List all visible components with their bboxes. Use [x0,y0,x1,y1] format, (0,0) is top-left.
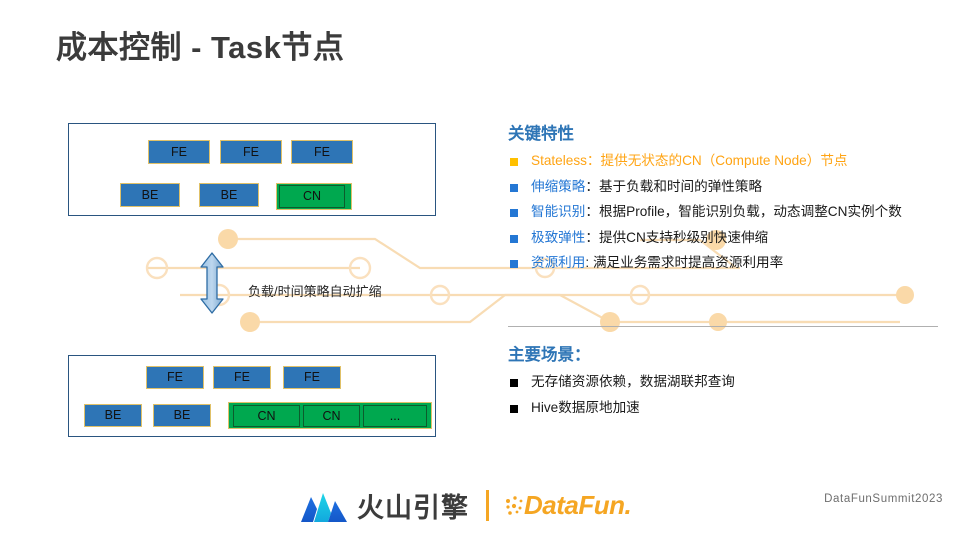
feature-item: 极致弹性：提供CN支持秒级别快速伸缩 [508,228,948,248]
scenario-item: Hive数据原地加速 [508,398,948,418]
node-be: BE [84,404,142,427]
bullet-square-icon [510,158,518,166]
section-divider [508,326,938,327]
feature-body: 满足业务需求时提高资源利用率 [593,255,783,270]
feature-body: 根据Profile，智能识别负载，动态调整CN实例个数 [599,204,902,219]
feature-separator: : [585,255,593,270]
datafun-dots-icon [504,492,524,518]
feature-item: 智能识别：根据Profile，智能识别负载，动态调整CN实例个数 [508,202,948,222]
feature-label: 极致弹性 [531,230,585,245]
bullet-square-icon [510,209,518,217]
node-fe: FE [148,140,210,164]
key-features-heading: 关键特性 [508,124,948,145]
bullet-square-icon [510,184,518,192]
feature-separator: ： [585,204,599,219]
scenarios-heading: 主要场景： [508,345,948,366]
key-features-list: Stateless：提供无状态的CN（Compute Node）节点 伸缩策略：… [508,151,948,273]
node-be: BE [153,404,211,427]
feature-separator: ： [585,230,599,245]
node-cn: CN [233,405,300,427]
feature-body: 提供无状态的CN（Compute Node）节点 [601,153,848,168]
partner-name: DataFun. [524,490,631,521]
node-fe: FE [283,366,341,389]
node-fe: FE [291,140,353,164]
bullet-square-icon [510,379,518,387]
feature-separator: ： [585,179,599,194]
node-cn-band: CN CN ... [228,402,432,429]
scenario-body: 无存储资源依赖，数据湖联邦查询 [531,374,735,389]
node-cn-ellipsis: ... [363,405,427,427]
node-fe: FE [146,366,204,389]
feature-separator: ： [587,153,601,168]
feature-label: 伸缩策略 [531,179,585,194]
feature-label: 资源利用 [531,255,585,270]
feature-body: 基于负载和时间的弹性策略 [599,179,762,194]
feature-item: Stateless：提供无状态的CN（Compute Node）节点 [508,151,948,171]
double-headed-vertical-arrow [198,252,226,314]
brand-group: 火山引擎 DataFun. [297,482,631,528]
brand-divider [486,490,489,521]
summit-tag: DataFunSummit2023 [824,493,943,505]
scenarios-list: 无存储资源依赖，数据湖联邦查询 Hive数据原地加速 [508,372,948,418]
bullet-square-icon [510,260,518,268]
node-be: BE [199,183,259,207]
page-title: 成本控制 - Task节点 [56,22,344,67]
brand-name: 火山引擎 [357,486,469,525]
feature-label: Stateless [531,153,587,168]
node-fe: FE [213,366,271,389]
node-cn: CN [279,185,345,208]
bullet-square-icon [510,235,518,243]
feature-item: 伸缩策略：基于负载和时间的弹性策略 [508,177,948,197]
scenario-item: 无存储资源依赖，数据湖联邦查询 [508,372,948,392]
volcano-mountain-logo-icon [297,485,351,525]
bullet-square-icon [510,405,518,413]
footer: 火山引擎 DataFun. DataFunSummit2023 [0,479,971,539]
scenarios-block: 主要场景： 无存储资源依赖，数据湖联邦查询 Hive数据原地加速 [508,345,948,423]
scenario-body: Hive数据原地加速 [531,400,640,415]
scale-caption: 负载/时间策略自动扩缩 [248,281,382,300]
node-cn: CN [303,405,360,427]
feature-item: 资源利用: 满足业务需求时提高资源利用率 [508,253,948,273]
key-features-block: 关键特性 Stateless：提供无状态的CN（Compute Node）节点 … [508,124,948,278]
node-fe: FE [220,140,282,164]
node-cn-band: CN [276,183,352,210]
feature-label: 智能识别 [531,204,585,219]
node-be: BE [120,183,180,207]
feature-body: 提供CN支持秒级别快速伸缩 [599,230,768,245]
